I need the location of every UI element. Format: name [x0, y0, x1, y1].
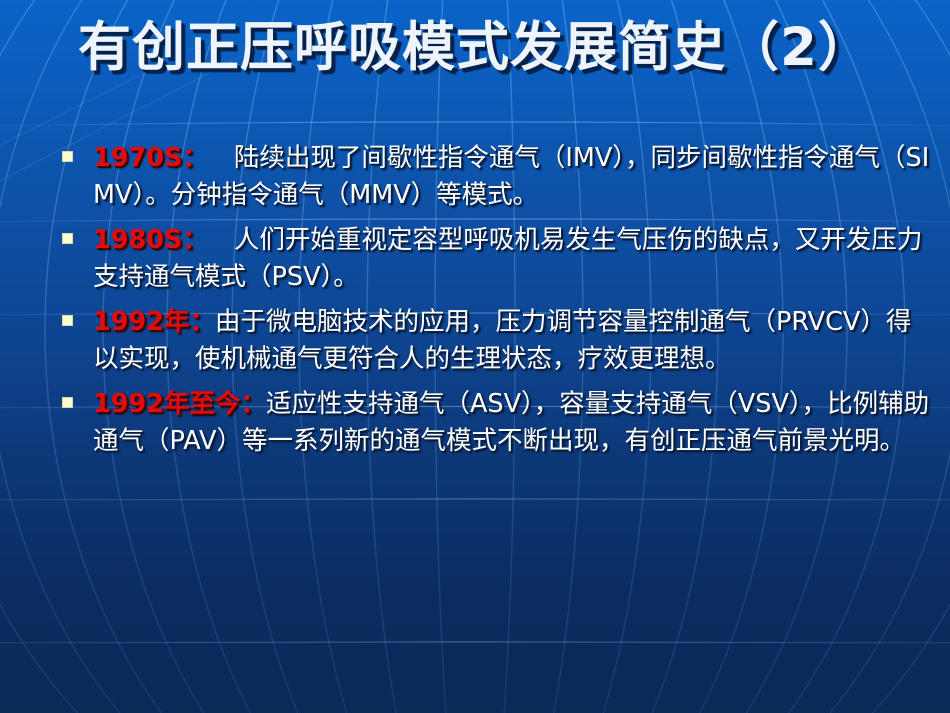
bullet-body-text: 陆续出现了间歇性指令通气（IMV），同步间歇性指令通气（SIMV）。分钟指令通气… [93, 143, 929, 210]
list-item: 1992年：由于微电脑技术的应用，压力调节容量控制通气（PRVCV）得以实现，使… [55, 304, 935, 378]
presentation-slide: 有创正压呼吸模式发展简史（2） 1970S：陆续出现了间歇性指令通气（IMV），… [0, 0, 950, 713]
bullet-square-icon [62, 397, 73, 408]
bullet-body-text: 由于微电脑技术的应用，压力调节容量控制通气（PRVCV）得以实现，使机械通气更符… [93, 307, 911, 374]
list-item: 1980S：人们开始重视定容型呼吸机易发生气压伤的缺点，又开发压力支持通气模式（… [55, 222, 935, 296]
bullet-list: 1970S：陆续出现了间歇性指令通气（IMV），同步间歇性指令通气（SIMV）。… [55, 140, 935, 468]
list-item: 1970S：陆续出现了间歇性指令通气（IMV），同步间歇性指令通气（SIMV）。… [55, 140, 935, 214]
bullet-lead-label: 1970S： [93, 143, 208, 173]
bullet-lead-label: 1992年至今： [93, 389, 266, 419]
bullet-text: 1992年至今：适应性支持通气（ASV），容量支持通气（VSV），比例辅助通气（… [93, 386, 935, 460]
bullet-square-icon [62, 315, 73, 326]
bullet-lead-label: 1992年： [93, 307, 215, 337]
slide-title-container: 有创正压呼吸模式发展简史（2） [0, 20, 950, 76]
page-title: 有创正压呼吸模式发展简史（2） [78, 20, 872, 76]
bullet-square-icon [62, 233, 73, 244]
bullet-text: 1992年：由于微电脑技术的应用，压力调节容量控制通气（PRVCV）得以实现，使… [93, 304, 935, 378]
bullet-lead-label: 1980S： [93, 225, 208, 255]
bullet-square-icon [62, 151, 73, 162]
bullet-text: 1970S：陆续出现了间歇性指令通气（IMV），同步间歇性指令通气（SIMV）。… [93, 140, 935, 214]
list-item: 1992年至今：适应性支持通气（ASV），容量支持通气（VSV），比例辅助通气（… [55, 386, 935, 460]
bullet-text: 1980S：人们开始重视定容型呼吸机易发生气压伤的缺点，又开发压力支持通气模式（… [93, 222, 935, 296]
bullet-body-text: 人们开始重视定容型呼吸机易发生气压伤的缺点，又开发压力支持通气模式（PSV）。 [93, 225, 922, 292]
